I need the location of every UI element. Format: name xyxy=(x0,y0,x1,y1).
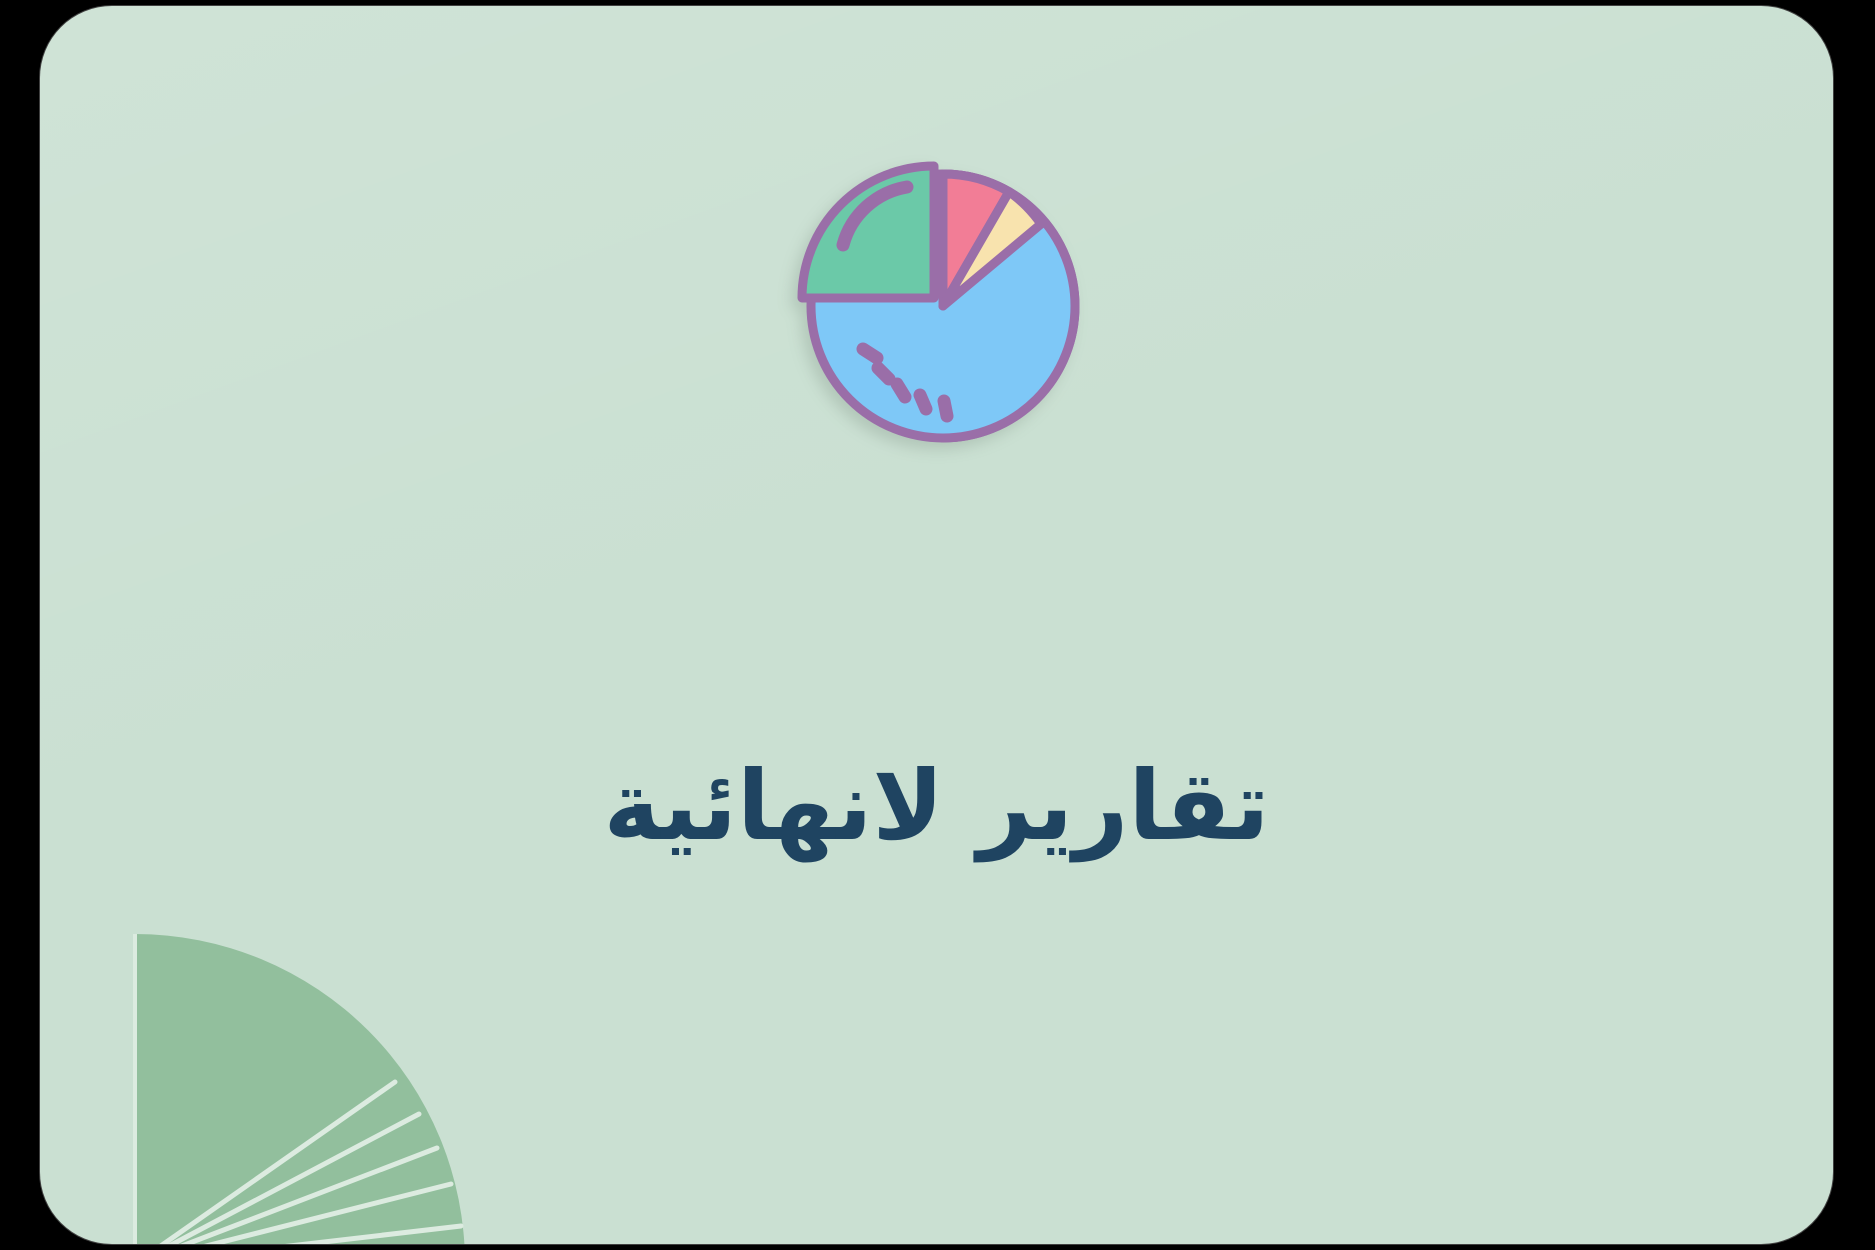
pie-chart-icon xyxy=(787,156,1087,456)
fan-decoration-graphic xyxy=(40,934,505,1244)
feature-card: تقارير لانهائية xyxy=(40,6,1833,1244)
fan-body xyxy=(135,934,465,1244)
pie-chart-icon-container xyxy=(40,156,1833,456)
pie-slice-green xyxy=(802,166,934,298)
screenshot-stage: تقارير لانهائية xyxy=(0,0,1875,1250)
page-title: تقارير لانهائية xyxy=(603,746,1269,866)
page-title-container: تقارير لانهائية xyxy=(40,746,1833,866)
fan-blade-separators xyxy=(135,1082,461,1244)
